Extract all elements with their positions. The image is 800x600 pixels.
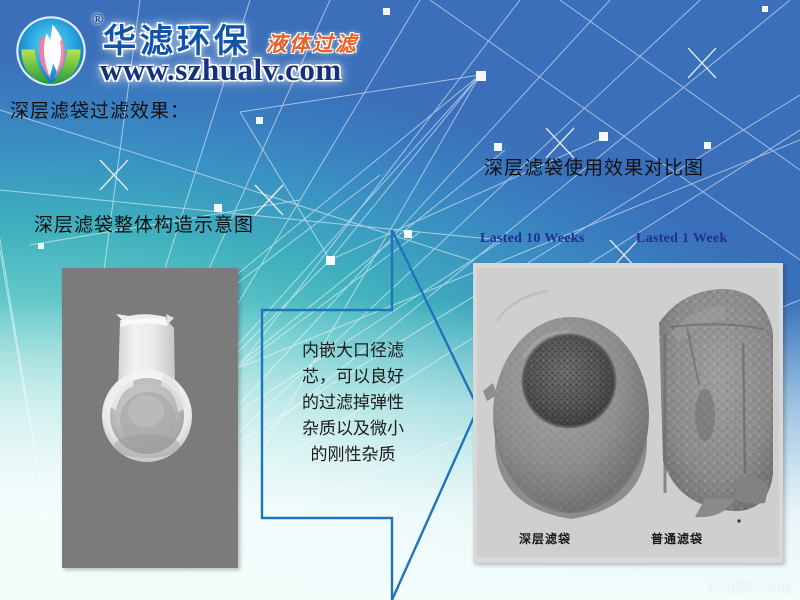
- heading-comparison-chart: 深层滤袋使用效果对比图: [484, 153, 704, 180]
- photo-filter-bag-comparison: 深层滤袋 普通滤袋: [473, 263, 783, 563]
- arrow-text-line: 内嵌大口径滤: [284, 338, 422, 364]
- label-lasted-left: Lasted 10 Weeks: [480, 231, 585, 247]
- comparison-photo-illustration: [473, 263, 783, 563]
- watermark: m.g89v.com: [709, 580, 792, 595]
- slide-canvas: ® 华滤环保 液体过滤 www.szhualv.com 深层滤袋过滤效果： 深层…: [0, 0, 800, 600]
- arrow-text-line: 杂质以及微小: [284, 416, 422, 442]
- arrow-text-line: 的刚性杂质: [284, 442, 422, 468]
- arrow-callout: 内嵌大口径滤 芯，可以良好 的过滤掉弹性 杂质以及微小 的刚性杂质: [252, 228, 482, 600]
- arrow-text-line: 芯，可以良好: [284, 364, 422, 390]
- label-lasted-right: Lasted 1 Week: [636, 231, 728, 247]
- caption-ordinary-filter-bag: 普通滤袋: [651, 530, 703, 547]
- lasted-labels-row: Lasted 10 Weeks Lasted 1 Week: [475, 231, 795, 251]
- brand-header: ® 华滤环保 液体过滤 www.szhualv.com: [8, 6, 398, 92]
- hualv-logo-icon: [14, 14, 88, 88]
- arrow-callout-text: 内嵌大口径滤 芯，可以良好 的过滤掉弹性 杂质以及微小 的刚性杂质: [284, 338, 422, 468]
- heading-structure-diagram: 深层滤袋整体构造示意图: [34, 210, 254, 237]
- photo-filter-bag-structure: [62, 268, 238, 568]
- arrow-text-line: 的过滤掉弹性: [284, 390, 422, 416]
- filter-bag-illustration: [62, 268, 238, 568]
- page-title: 深层滤袋过滤效果：: [10, 96, 190, 123]
- brand-website-url[interactable]: www.szhualv.com: [100, 52, 342, 88]
- registered-trademark-icon: ®: [92, 12, 103, 29]
- caption-depth-filter-bag: 深层滤袋: [519, 530, 571, 547]
